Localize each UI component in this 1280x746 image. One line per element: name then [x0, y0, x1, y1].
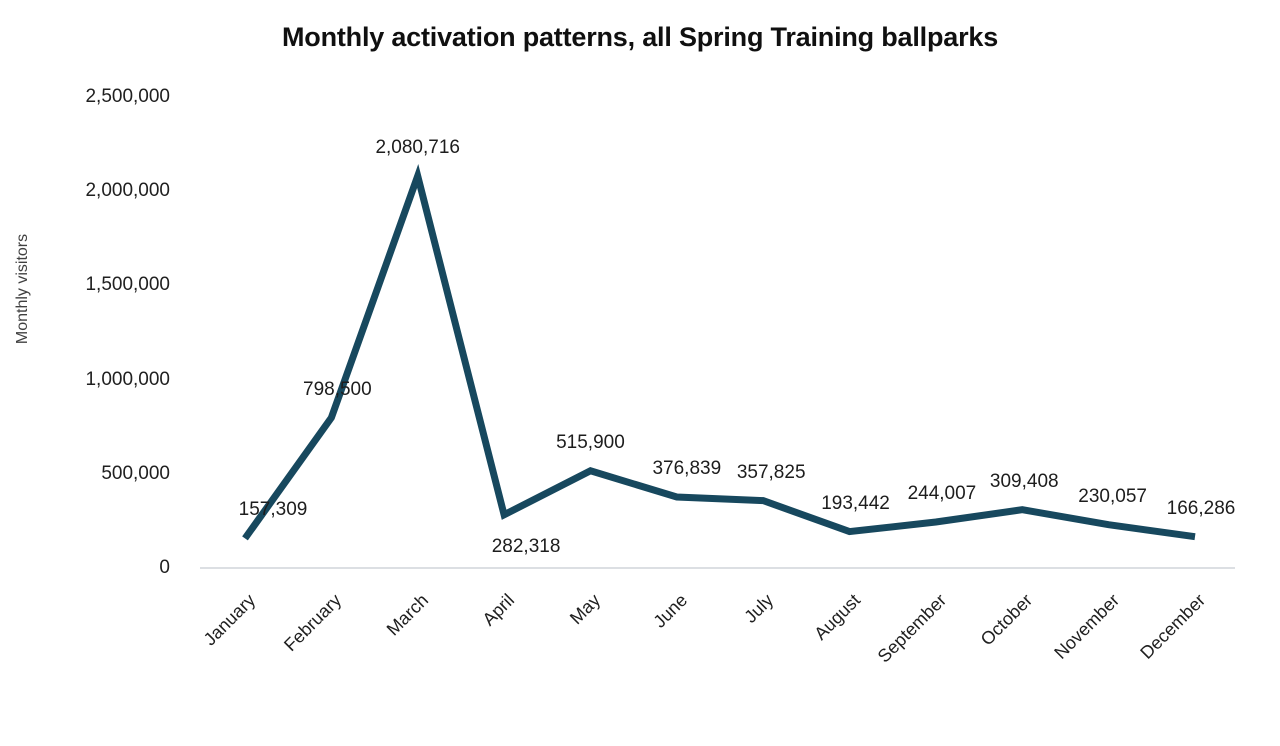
data-point-label: 166,286	[1167, 498, 1236, 520]
data-point-label: 2,080,716	[375, 137, 460, 159]
data-point-label: 309,408	[990, 471, 1059, 493]
data-point-label: 357,825	[737, 462, 806, 484]
data-point-label: 244,007	[908, 483, 977, 505]
line-chart: Monthly activation patterns, all Spring …	[0, 0, 1280, 715]
data-point-label: 376,839	[652, 458, 721, 480]
plot-area: 157,309798,5002,080,716282,318515,900376…	[0, 0, 1280, 715]
data-point-label: 230,057	[1078, 486, 1147, 508]
data-point-label: 157,309	[239, 499, 308, 521]
data-point-label: 798,500	[303, 379, 372, 401]
data-point-label: 193,442	[821, 493, 890, 515]
data-point-label: 515,900	[556, 432, 625, 454]
series-line-monthly-visitors	[0, 0, 1280, 715]
data-point-label: 282,318	[492, 536, 561, 558]
